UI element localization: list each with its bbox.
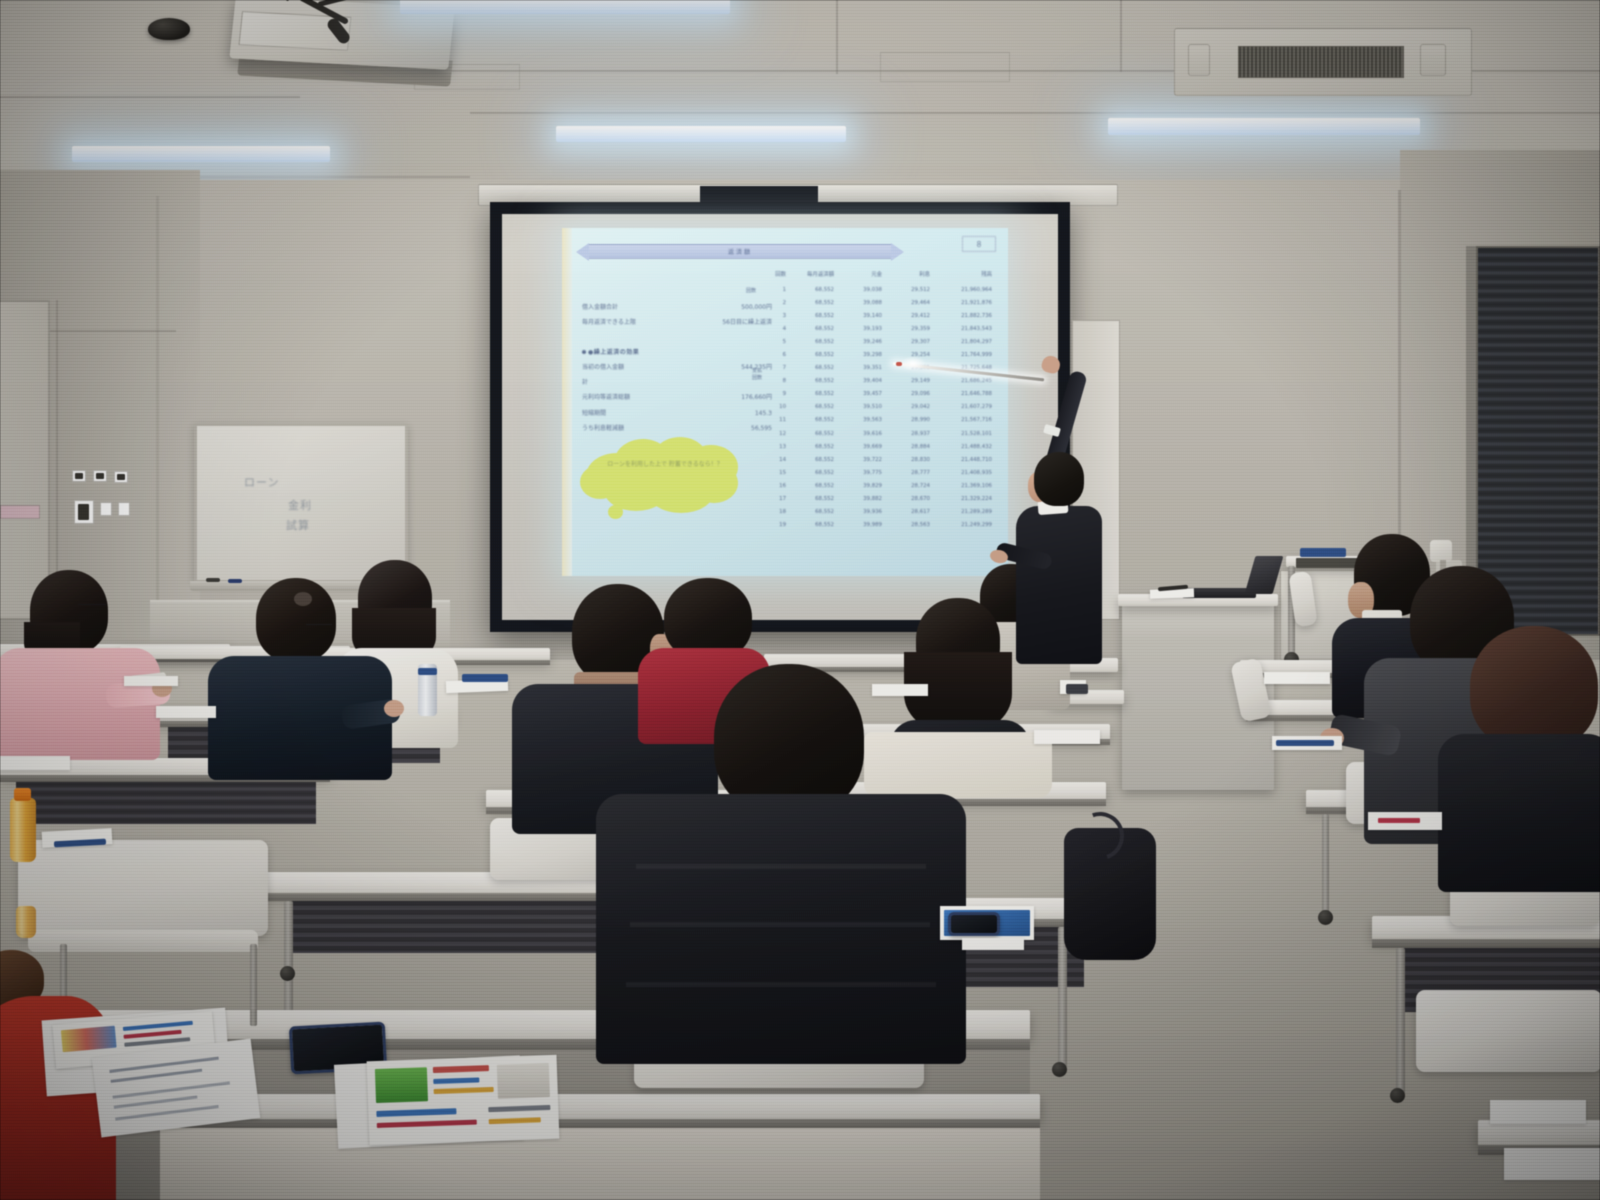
blue-folder[interactable] (462, 674, 508, 682)
table-row: 668,55239,29829,25421,764,999 (760, 348, 996, 361)
slide-text-row: 短縮期間 145.3 (582, 406, 772, 421)
table-cell: 17 (760, 496, 786, 502)
person-head (256, 578, 336, 662)
table-cell: 39,298 (834, 352, 882, 358)
wall-outlet[interactable] (100, 502, 112, 516)
table-cell: 21,289,289 (930, 509, 992, 515)
table-row: 268,55239,08829,46421,921,876 (760, 296, 996, 309)
table-leg (284, 901, 293, 1021)
paper-handout[interactable] (962, 938, 1024, 950)
glasses-icon (78, 604, 106, 608)
ac-side-vent (1188, 44, 1210, 76)
table-cell: 29,307 (882, 339, 930, 345)
person-hand (384, 700, 404, 717)
switch-indicator (75, 473, 83, 479)
table-row: 1368,55239,66928,88421,488,432 (760, 440, 996, 453)
fluorescent-light (400, 0, 730, 14)
slide-heading-text: ●繰上返済の効果 (588, 349, 639, 356)
bottle-cap (14, 788, 31, 801)
slide-amortization-table: 回数 毎月返済額 元金 利息 残高 168,55239,03829,51221,… (760, 270, 996, 532)
table-cell: 21,960,964 (930, 287, 992, 293)
table-cell: 21,921,876 (930, 300, 992, 306)
blue-print-band (1276, 740, 1334, 746)
table-cell: 21,567,716 (930, 417, 992, 423)
table-cell: 1 (760, 287, 786, 293)
table-body: 168,55239,03829,51221,960,964268,55239,0… (760, 283, 996, 532)
ac-grille (1238, 46, 1404, 78)
table-cell: 29,512 (882, 287, 930, 293)
table-cell: 21,646,788 (930, 391, 992, 397)
table-cell: 39,563 (834, 417, 882, 423)
person-head (1470, 626, 1598, 750)
table-cell: 68,552 (786, 522, 834, 528)
desk-edge (262, 893, 612, 901)
table-cell: 21,488,432 (930, 444, 992, 450)
table-cell: 15 (760, 470, 786, 476)
desk-understructure (16, 782, 316, 824)
table-cell: 21,448,710 (930, 457, 992, 463)
table-row: 768,55239,35129,20121,725,648 (760, 362, 996, 375)
drink-bottle[interactable] (10, 798, 36, 862)
table-cell: 28,617 (882, 509, 930, 515)
paper-handout[interactable] (1034, 730, 1100, 744)
table-row: 1868,55239,93628,61721,289,289 (760, 506, 996, 519)
table-cell: 68,552 (786, 300, 834, 306)
paper-handout[interactable] (156, 706, 216, 718)
ceiling-seam (1120, 0, 1122, 72)
table-cell: 21,764,999 (930, 352, 992, 358)
fluorescent-light (556, 126, 846, 142)
small-device[interactable] (1066, 684, 1088, 694)
desk-edge (1372, 939, 1600, 948)
table-cell: 29,464 (882, 300, 930, 306)
chair[interactable] (18, 840, 268, 936)
paper-handout[interactable] (1490, 1100, 1586, 1124)
wall-outlet[interactable] (118, 502, 130, 516)
desk-front-panel (160, 1128, 1040, 1200)
ac-side-vent (1420, 44, 1446, 76)
table-cell: 68,552 (786, 470, 834, 476)
ceiling-seam (470, 112, 1600, 114)
table-cell: 21,408,935 (930, 470, 992, 476)
puffer-seam (626, 982, 936, 987)
attendee-front-left (2, 570, 162, 750)
chair[interactable] (1416, 990, 1600, 1072)
table-cell: 39,775 (834, 470, 882, 476)
hair-clip (294, 592, 312, 606)
chair-caster (280, 966, 295, 981)
whiteboard-text-line: ローン (244, 477, 279, 490)
switch-indicator (117, 474, 125, 480)
slide-speech-bubble: ローンを利用した上で 貯蓄できるなら！？ (578, 435, 748, 513)
table-cell: 39,669 (834, 444, 882, 450)
table-header-row: 回数 毎月返済額 元金 利息 残高 (760, 270, 996, 278)
table-header-cell: 毎月返済額 (786, 270, 834, 278)
table-row: 1968,55239,98928,56321,249,299 (760, 519, 996, 532)
table-cell: 21,804,297 (930, 339, 992, 345)
table-cell: 16 (760, 483, 786, 489)
whiteboard-text-line: 試算 (286, 520, 310, 533)
seminar-room-photo: ローン 金利 試算 返済額 8 借入金額合計 500,000円 毎月返済できる上… (0, 0, 1600, 1200)
table-cell: 68,552 (786, 378, 834, 384)
table-row: 568,55239,24629,30721,804,297 (760, 335, 996, 348)
chair-leg (250, 944, 257, 1026)
table-cell: 39,351 (834, 365, 882, 371)
table-row: 1768,55239,88228,67021,329,224 (760, 493, 996, 506)
table-header-cell: 回数 (760, 270, 786, 278)
table-cell: 5 (760, 339, 786, 345)
table-cell: 28,670 (882, 496, 930, 502)
table-cell: 39,140 (834, 313, 882, 319)
presenter (990, 360, 1120, 660)
table-cell: 21,528,101 (930, 431, 992, 437)
table-cell: 4 (760, 326, 786, 332)
table-cell: 39,722 (834, 457, 882, 463)
desk (160, 1094, 1040, 1120)
table-cell: 68,552 (786, 326, 834, 332)
table-cell: 68,552 (786, 313, 834, 319)
attendee-right-near (1430, 626, 1600, 886)
print-band (1378, 818, 1420, 823)
table-cell: 2 (760, 300, 786, 306)
table-cell: 39,829 (834, 483, 882, 489)
slide-left-text-block: 借入金額合計 500,000円 毎月返済できる上限 56日目に繰上返済 ●繰上返… (582, 300, 772, 436)
slide-text-row: 計 (582, 375, 772, 390)
table-row: 968,55239,45729,09621,646,788 (760, 388, 996, 401)
person-torso (596, 794, 966, 1064)
table-cell: 29,096 (882, 391, 930, 397)
table-cell: 39,193 (834, 326, 882, 332)
table-row: 1668,55239,82928,72421,369,106 (760, 479, 996, 492)
puffer-seam (636, 864, 926, 869)
table-cell: 18 (760, 509, 786, 515)
table-cell: 28,777 (882, 470, 930, 476)
tumbler-band (418, 668, 437, 675)
table-header-cell: 残高 (930, 270, 992, 278)
table-cell: 21,607,279 (930, 404, 992, 410)
table-cell: 19 (760, 522, 786, 528)
table-cell: 28,830 (882, 457, 930, 463)
table-cell: 39,404 (834, 378, 882, 384)
table-cell: 21,329,224 (930, 496, 992, 502)
table-cell: 28,724 (882, 483, 930, 489)
table-header-cell: 利息 (882, 270, 930, 278)
slide-label: 当初の借入金額 (582, 360, 624, 375)
table-row: 1468,55239,72228,83021,448,710 (760, 453, 996, 466)
projected-slide: 返済額 8 借入金額合計 500,000円 毎月返済できる上限 56日目に繰上返… (562, 228, 1008, 576)
paper-handout[interactable] (124, 676, 178, 686)
table-cell: 21,686,245 (930, 378, 992, 384)
table-caster (1390, 1088, 1405, 1103)
table-row: 368,55239,14029,41221,882,736 (760, 309, 996, 322)
desk-understructure (286, 901, 596, 953)
table-cell: 28,937 (882, 431, 930, 437)
slide-text-row: 毎月返済できる上限 56日目に繰上返済 (582, 315, 772, 330)
table-cell: 28,990 (882, 417, 930, 423)
paper-handout[interactable] (1504, 1148, 1600, 1180)
table-header-cell: 元金 (834, 270, 882, 278)
paper-handout[interactable] (872, 684, 928, 696)
pointer-light-glare (900, 356, 926, 371)
table-row: 868,55239,40429,14921,686,245 (760, 375, 996, 388)
paper-handout[interactable] (0, 756, 70, 770)
table-cell: 68,552 (786, 352, 834, 358)
presenter-head (1034, 452, 1084, 506)
table-cell: 21,249,299 (930, 522, 992, 528)
slide-section-heading: ●繰上返済の効果 (582, 345, 772, 360)
ceiling-tile (880, 52, 1010, 82)
table-cell: 7 (760, 365, 786, 371)
drink-bottle[interactable] (16, 906, 36, 938)
table-leg (1322, 814, 1329, 914)
bullet-icon (582, 350, 586, 354)
table-cell: 8 (760, 378, 786, 384)
table-cell: 68,552 (786, 431, 834, 437)
table-cell: 39,038 (834, 287, 882, 293)
slide-title: 返済額 (728, 247, 752, 256)
slide-label: 毎月返済できる上限 (582, 315, 636, 330)
table-cell: 21,843,543 (930, 326, 992, 332)
table-row: 168,55239,03829,51221,960,964 (760, 283, 996, 296)
table-cell: 11 (760, 417, 786, 423)
table-cell: 21,369,106 (930, 483, 992, 489)
fluorescent-light (1108, 118, 1420, 135)
printed-handout[interactable] (367, 1055, 560, 1146)
table-cell: 68,552 (786, 287, 834, 293)
fluorescent-light (72, 146, 330, 162)
slide-title-banner: 返済額 (588, 244, 892, 259)
table-vertical-label: 回数 (746, 288, 756, 295)
table-row: 1068,55239,51029,04221,607,279 (760, 401, 996, 414)
slide-page-number: 8 (962, 236, 996, 252)
table-row: 468,55239,19329,35921,843,543 (760, 322, 996, 335)
table-cell: 13 (760, 444, 786, 450)
table-caster (1318, 910, 1333, 925)
slide-label: 計 (582, 375, 588, 390)
table-cell: 68,552 (786, 404, 834, 410)
table-row: 1268,55239,61628,93721,528,101 (760, 427, 996, 440)
slide-label: 短縮期間 (582, 406, 606, 421)
table-cell: 29,149 (882, 378, 930, 384)
table-cell: 21,882,736 (930, 313, 992, 319)
ceiling-seam (836, 0, 838, 74)
table-cell: 68,552 (786, 457, 834, 463)
table-row: 1568,55239,77528,77721,408,935 (760, 466, 996, 479)
table-cell: 39,989 (834, 522, 882, 528)
attendee-mid-left (208, 578, 392, 778)
table-cell: 6 (760, 352, 786, 358)
table-cell: 14 (760, 457, 786, 463)
presenter-torso (1016, 506, 1102, 664)
slide-text-row: 当初の借入金額 544,235円 (582, 360, 772, 375)
table-cell: 9 (760, 391, 786, 397)
whiteboard-text-line: 金利 (288, 500, 312, 513)
panel-display (78, 504, 89, 520)
table-cell: 39,616 (834, 431, 882, 437)
table-row: 1168,55239,56328,99021,567,716 (760, 414, 996, 427)
table-cell: 28,563 (882, 522, 930, 528)
table-cell: 39,882 (834, 496, 882, 502)
table-cell: 39,457 (834, 391, 882, 397)
slide-label: 借入金額合計 (582, 300, 618, 315)
table-cell: 68,552 (786, 365, 834, 371)
switch-indicator (96, 473, 104, 479)
table-cell: 29,412 (882, 313, 930, 319)
dome-sensor-icon (148, 18, 190, 40)
table-cell: 29,359 (882, 326, 930, 332)
slide-text-row: 借入金額合計 500,000円 (582, 300, 772, 315)
speech-bubble-text: ローンを利用した上で 貯蓄できるなら！？ (606, 459, 724, 470)
table-cell: 39,510 (834, 404, 882, 410)
table-cell: 29,042 (882, 404, 930, 410)
person-torso (1438, 734, 1600, 892)
paper-handout[interactable] (1264, 672, 1330, 684)
slide-label: 元利均等返済総額 (582, 390, 630, 405)
wall-sign (0, 505, 40, 519)
table-cell: 3 (760, 313, 786, 319)
table-caster (1052, 1062, 1067, 1077)
table-cell: 39,246 (834, 339, 882, 345)
table-cell: 68,552 (786, 339, 834, 345)
table-cell: 68,552 (786, 496, 834, 502)
table-leg (1396, 948, 1405, 1094)
puffer-seam (630, 922, 930, 927)
table-cell: 39,936 (834, 509, 882, 515)
table-cell: 68,552 (786, 391, 834, 397)
pointer-tip (896, 362, 902, 366)
attendee-foreground-puffer (596, 664, 966, 1064)
slide-text-row: 元利均等返済総額 176,660円 (582, 390, 772, 405)
table-cell: 68,552 (786, 509, 834, 515)
projection-edge-band (562, 228, 572, 576)
table-cell: 68,552 (786, 417, 834, 423)
table-cell: 68,552 (786, 444, 834, 450)
table-cell: 68,552 (786, 483, 834, 489)
smartphone[interactable] (948, 912, 1000, 936)
table-cell: 28,884 (882, 444, 930, 450)
glasses-icon (306, 624, 332, 628)
table-cell: 12 (760, 431, 786, 437)
ceiling-seam (0, 96, 300, 98)
table-cell: 39,088 (834, 300, 882, 306)
table-cell: 10 (760, 404, 786, 410)
